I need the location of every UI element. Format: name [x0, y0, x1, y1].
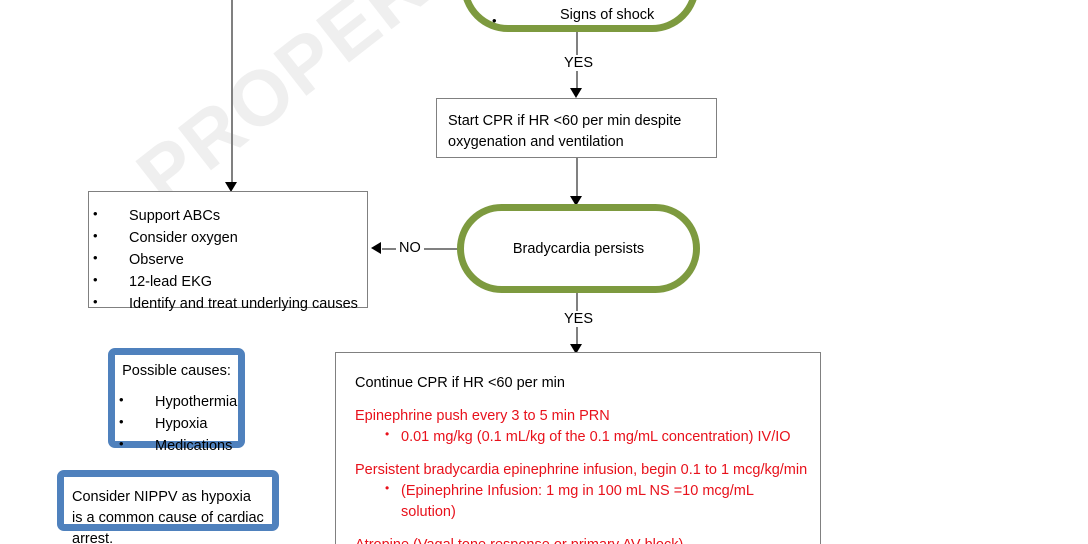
edge-label-persists-yes: YES: [561, 311, 596, 327]
list-item: Identify and treat underlying causes: [89, 293, 367, 315]
list-item: Medications: [115, 435, 238, 457]
signs-of-shock-decision: • Signs of shock: [461, 0, 699, 32]
supportive-care-list: Support ABCs Consider oxygen Observe 12-…: [89, 192, 367, 315]
possible-causes-callout: Possible causes: Hypothermia Hypoxia Med…: [108, 348, 245, 448]
list-item: 12-lead EKG: [89, 271, 367, 293]
signs-of-shock-label: Signs of shock: [560, 7, 654, 23]
flowchart-canvas: PROPERTY OF FLIGHTBRIDGE • Signs of shoc…: [0, 0, 1088, 544]
connector-to-supportive-care: [231, 0, 233, 184]
possible-causes-heading: Possible causes:: [115, 355, 238, 382]
medication-section-list: (Epinephrine Infusion: 1 mg in 100 mL NS…: [355, 481, 808, 523]
spacer: [355, 523, 808, 535]
medication-section-heading: Atropine (Vagal tone response or primary…: [355, 535, 808, 544]
medication-protocol-box: Continue CPR if HR <60 per min Epinephri…: [335, 352, 821, 544]
list-item: 0.01 mg/kg (0.1 mL/kg of the 0.1 mg/mL c…: [355, 427, 808, 448]
supportive-care-box: Support ABCs Consider oxygen Observe 12-…: [88, 191, 368, 308]
edge-label-shock-yes: YES: [561, 55, 596, 71]
connector-cpr-to-persists: [576, 158, 578, 199]
list-item: Consider oxygen: [89, 227, 367, 249]
medication-section-heading: Epinephrine push every 3 to 5 min PRN: [355, 406, 808, 427]
possible-causes-list: Hypothermia Hypoxia Medications: [115, 382, 238, 457]
medication-section-heading: Persistent bradycardia epinephrine infus…: [355, 460, 808, 481]
start-cpr-text: Start CPR if HR <60 per min despite oxyg…: [437, 99, 716, 153]
bradycardia-persists-decision: Bradycardia persists: [457, 204, 700, 293]
list-item: Hypothermia: [115, 391, 238, 413]
nippv-note-text: Consider NIPPV as hypoxia is a common ca…: [64, 477, 272, 544]
arrowhead-shock-to-cpr: [570, 88, 582, 98]
list-item: Hypoxia: [115, 413, 238, 435]
bradycardia-persists-label: Bradycardia persists: [513, 241, 644, 257]
spacer: [355, 448, 808, 460]
list-item: (Epinephrine Infusion: 1 mg in 100 mL NS…: [355, 481, 808, 523]
medication-section-list: 0.01 mg/kg (0.1 mL/kg of the 0.1 mg/mL c…: [355, 427, 808, 448]
list-item: Support ABCs: [89, 205, 367, 227]
medication-intro: Continue CPR if HR <60 per min: [355, 373, 808, 394]
arrowhead-persists-no: [371, 242, 381, 254]
edge-label-persists-no: NO: [396, 240, 424, 256]
list-item: Observe: [89, 249, 367, 271]
nippv-note-callout: Consider NIPPV as hypoxia is a common ca…: [57, 470, 279, 531]
bullet-glyph: •: [492, 13, 497, 28]
start-cpr-box: Start CPR if HR <60 per min despite oxyg…: [436, 98, 717, 158]
spacer: [355, 394, 808, 406]
